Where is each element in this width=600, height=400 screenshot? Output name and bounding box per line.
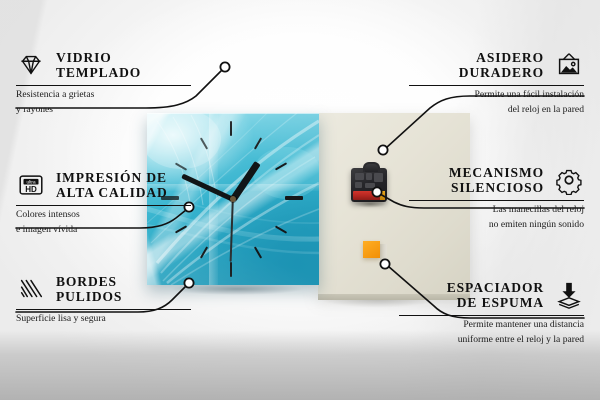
svg-text:ultra: ultra bbox=[26, 180, 35, 185]
feature-sub-line2: uniforme entre el reloj y la pared bbox=[399, 334, 584, 346]
feature-title-line2: DURADERO bbox=[459, 65, 544, 80]
svg-text:HD: HD bbox=[25, 185, 37, 194]
infographic-stage: VIDRIO TEMPLADO Resistencia a grietas y … bbox=[0, 0, 600, 400]
diagonal-lines-icon bbox=[16, 274, 46, 304]
foam-spacer bbox=[363, 241, 380, 258]
mechanism-detail-c bbox=[374, 173, 383, 182]
feature-title-line1: VIDRIO bbox=[56, 50, 141, 65]
gear-icon bbox=[554, 165, 584, 195]
diamond-icon bbox=[16, 50, 46, 80]
feature-sub-line1: Superficie lisa y segura bbox=[16, 313, 191, 325]
feature-sub-line1: Permite mantener una distancia bbox=[399, 319, 584, 331]
feature-mecanismo-silencioso: MECANISMO SILENCIOSO Las manecillas del … bbox=[409, 165, 584, 230]
feature-sub-line1: Resistencia a grietas bbox=[16, 89, 191, 101]
feature-rule bbox=[409, 85, 584, 86]
mechanism-battery bbox=[353, 191, 385, 200]
feature-vidrio-templado: VIDRIO TEMPLADO Resistencia a grietas y … bbox=[16, 50, 191, 115]
battery-positive-cap bbox=[380, 191, 385, 200]
arrow-onto-layers-icon bbox=[554, 280, 584, 310]
mechanism-detail-d bbox=[355, 182, 362, 188]
feature-sub-line1: Permite una fácil instalación bbox=[409, 89, 584, 101]
feature-sub-line2: no emiten ningún sonido bbox=[409, 219, 584, 231]
feature-rule bbox=[16, 85, 191, 86]
feature-bordes-pulidos: BORDES PULIDOS Superficie lisa y segura bbox=[16, 274, 191, 325]
connector-dot-vidrio-templado bbox=[220, 62, 229, 71]
feature-title-line1: IMPRESIÓN DE bbox=[56, 170, 168, 185]
mechanism-detail-a bbox=[355, 173, 364, 180]
feature-asidero-duradero: ASIDERO DURADERO Permite una fácil insta… bbox=[409, 50, 584, 115]
feature-title-line2: TEMPLADO bbox=[56, 65, 141, 80]
feature-title-line1: ASIDERO bbox=[459, 50, 544, 65]
mechanism-detail-b bbox=[366, 173, 372, 180]
feature-title-line1: ESPACIADOR bbox=[447, 280, 544, 295]
feature-rule bbox=[16, 309, 191, 310]
feature-rule bbox=[399, 315, 584, 316]
feature-sub-line2: y rayones bbox=[16, 104, 191, 116]
feature-impresion-alta-calidad: ultra HD IMPRESIÓN DE ALTA CALIDAD Color… bbox=[16, 170, 191, 235]
picture-hanger-icon bbox=[554, 50, 584, 80]
feature-sub-line1: Colores intensos bbox=[16, 209, 191, 221]
feature-sub-line2: del reloj en la pared bbox=[409, 104, 584, 116]
feature-espaciador-de-espuma: ESPACIADOR DE ESPUMA Permite mantener un… bbox=[399, 280, 584, 345]
clock-mechanism bbox=[351, 168, 387, 202]
foam-spacer-side bbox=[380, 244, 387, 261]
feature-title-line1: MECANISMO bbox=[449, 165, 544, 180]
feature-sub-line2: e imagen vívida bbox=[16, 224, 191, 236]
feature-rule bbox=[16, 205, 191, 206]
feature-title-line2: PULIDOS bbox=[56, 289, 122, 304]
feature-title-line2: ALTA CALIDAD bbox=[56, 185, 168, 200]
feature-title-line2: SILENCIOSO bbox=[449, 180, 544, 195]
feature-title-line1: BORDES bbox=[56, 274, 122, 289]
feature-title-line2: DE ESPUMA bbox=[447, 295, 544, 310]
feature-rule bbox=[409, 200, 584, 201]
ultra-hd-badge-icon: ultra HD bbox=[16, 170, 46, 200]
feature-sub-line1: Las manecillas del reloj bbox=[409, 204, 584, 216]
mechanism-hanger-icon bbox=[363, 162, 380, 172]
mechanism-detail-e bbox=[365, 183, 375, 188]
